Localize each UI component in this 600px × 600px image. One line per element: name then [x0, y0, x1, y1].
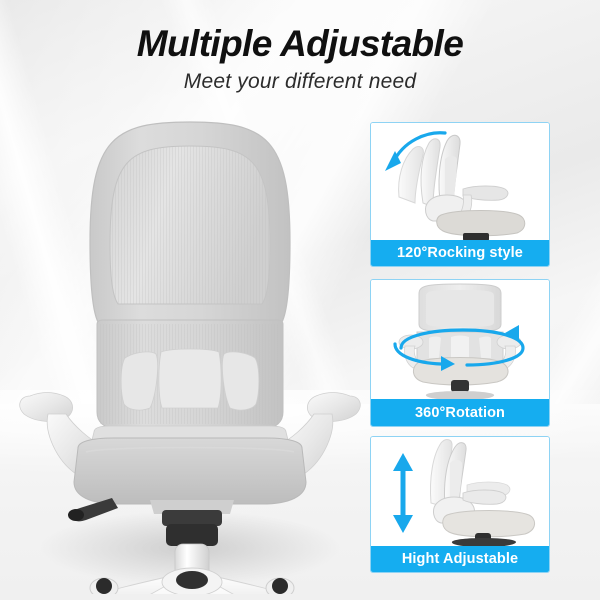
feature-panel-height[interactable]: Hight Adjustable — [370, 436, 550, 573]
panel-caption-height: Hight Adjustable — [371, 546, 549, 572]
double-arrow-vertical-icon — [393, 453, 413, 533]
hero-chair-image — [0, 96, 370, 594]
caster — [266, 578, 294, 594]
lumbar-mesh — [97, 320, 283, 428]
caster — [90, 578, 118, 594]
seat-cushion — [74, 426, 306, 504]
panel-caption-rotation: 360°Rotation — [371, 399, 549, 426]
page-title: Multiple Adjustable — [0, 22, 600, 66]
panel-caption-rocking: 120°Rocking style — [371, 240, 549, 266]
lumbar-pad-right — [222, 352, 258, 410]
backrest-mesh — [90, 122, 290, 322]
product-feature-image: Multiple Adjustable Meet your different … — [0, 0, 600, 600]
backrest-position-reclined — [399, 147, 424, 203]
feature-panel-rocking[interactable]: 120°Rocking style — [370, 122, 550, 267]
page-subtitle: Meet your different need — [0, 68, 600, 96]
lumbar-pad-left — [121, 352, 157, 410]
lumbar-pad-center — [159, 349, 221, 408]
feature-panel-rotation[interactable]: 360°Rotation — [370, 279, 550, 427]
